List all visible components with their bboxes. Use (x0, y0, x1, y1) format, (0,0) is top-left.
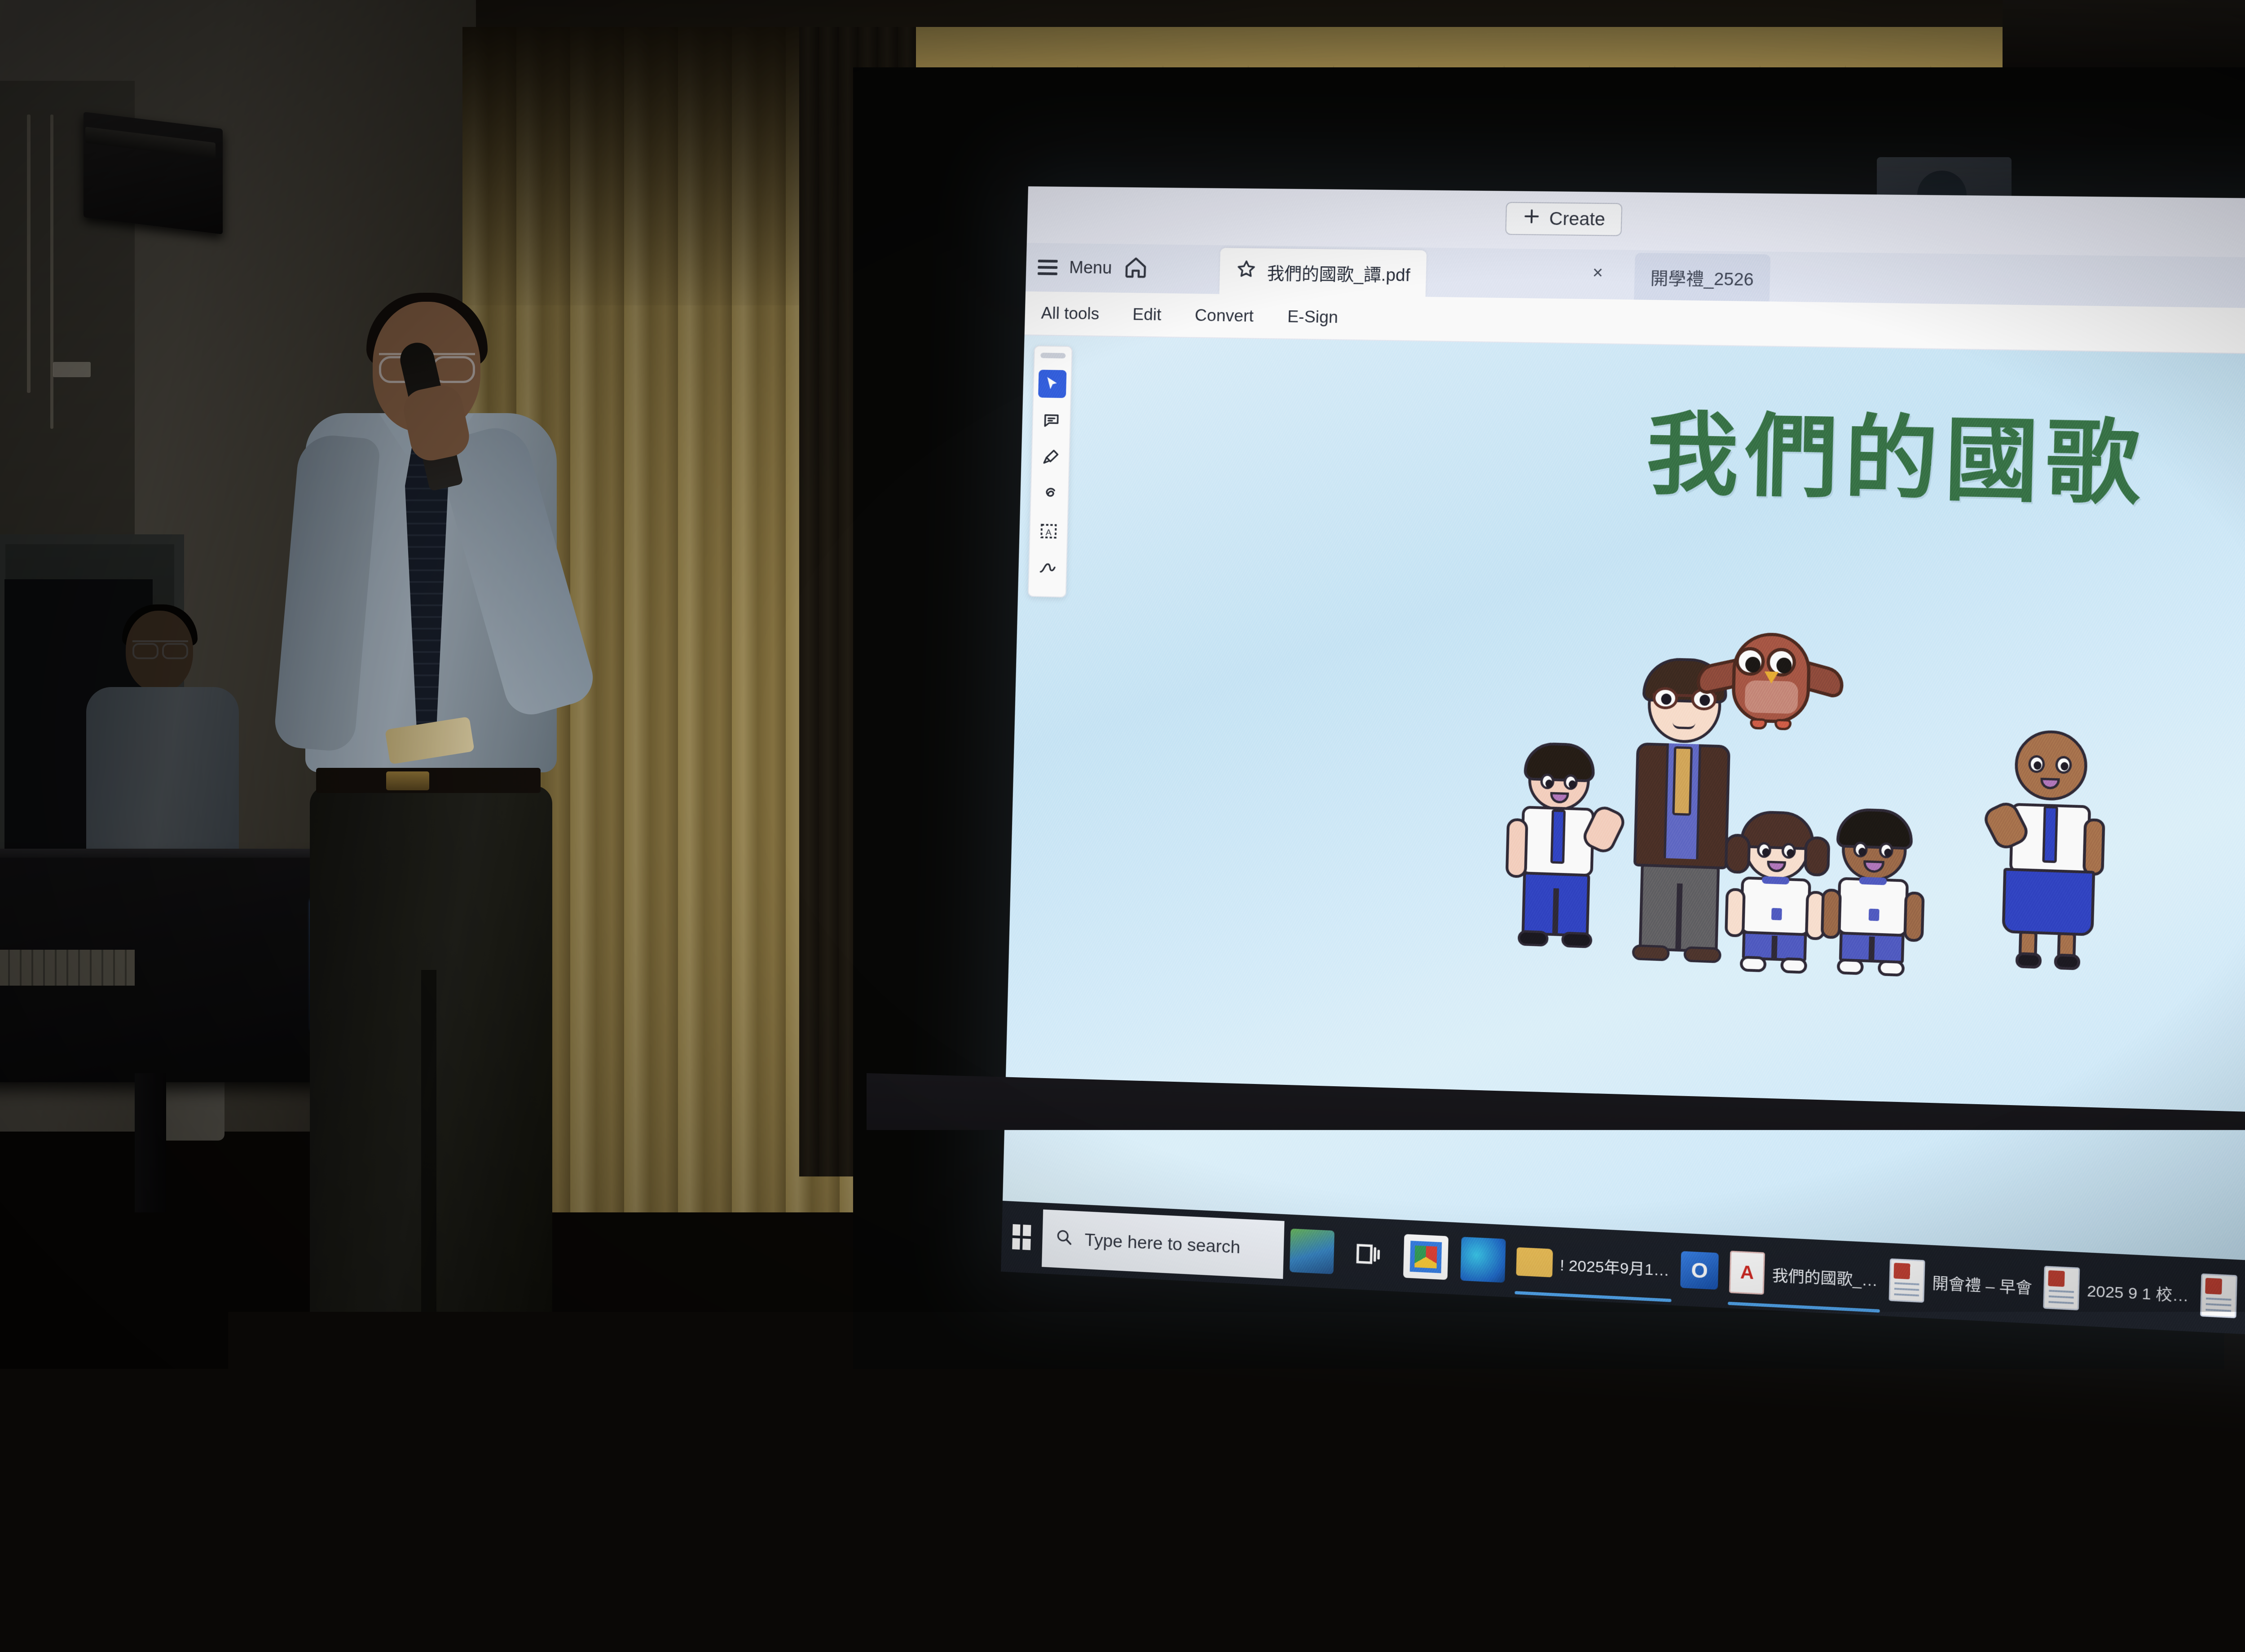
character-schoolgirl-waving (1981, 704, 2119, 978)
character-girl-pigtails-pe (1725, 807, 1828, 981)
eyeglasses (132, 640, 188, 655)
home-icon[interactable] (1123, 255, 1149, 282)
character-schoolboy-waving (1505, 736, 1618, 955)
shoe-left (285, 1318, 423, 1381)
plus-icon (1522, 207, 1541, 230)
screen-mask-top (853, 67, 2245, 202)
create-button-label: Create (1549, 208, 1606, 229)
screen-reflection (1074, 1248, 1953, 1652)
wall-cable (27, 115, 31, 393)
tab-all-tools[interactable]: All tools (1041, 304, 1100, 323)
tab-title: 開學禮_2526 (1650, 264, 1754, 290)
curtain-reflection (665, 1257, 1076, 1652)
presenter-speaking (278, 269, 682, 1482)
tab-esign[interactable]: E-Sign (1287, 307, 1338, 327)
tab-edit[interactable]: Edit (1132, 305, 1162, 324)
belt-buckle (386, 771, 429, 790)
hamburger-icon[interactable] (1038, 260, 1058, 275)
tab-title: 我們的國歌_譚.pdf (1267, 259, 1410, 286)
character-owl-mascot (1698, 622, 1842, 741)
stage-scene: Create Find text or tools (0, 0, 2245, 1652)
wall-outlet (53, 362, 91, 377)
tab-active[interactable]: 我們的國歌_譚.pdf (1219, 248, 1426, 297)
tab-close-icon[interactable]: × (1592, 263, 1603, 283)
shoe-right (412, 1326, 545, 1388)
tab-inactive[interactable]: 開學禮_2526 (1634, 253, 1770, 301)
piano-keys (0, 950, 135, 986)
create-button[interactable]: Create (1505, 202, 1622, 236)
star-icon[interactable] (1235, 258, 1257, 285)
wall-cable (50, 115, 53, 429)
menu-label[interactable]: Menu (1069, 258, 1112, 278)
menu-zone: Menu (1026, 243, 1160, 293)
tab-convert[interactable]: Convert (1195, 306, 1254, 326)
character-boy-pe-uniform (1822, 806, 1926, 985)
trouser-seam (421, 970, 436, 1365)
piano-leg (135, 1073, 166, 1212)
